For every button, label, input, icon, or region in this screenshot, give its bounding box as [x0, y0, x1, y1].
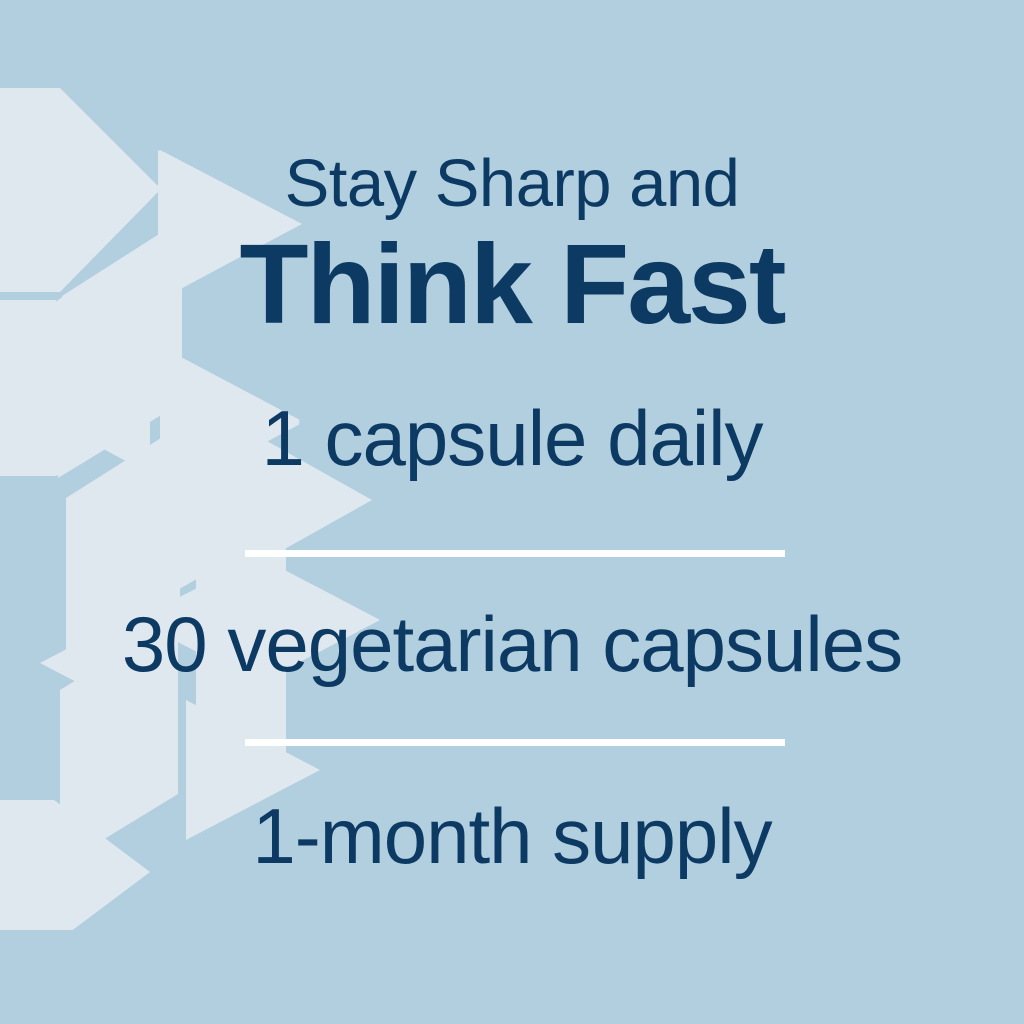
- content-stack: Stay Sharp and Think Fast 1 capsule dail…: [0, 0, 1024, 1024]
- page-title: Think Fast: [0, 228, 1024, 341]
- divider-rule: [245, 550, 785, 557]
- headline-eyebrow: Stay Sharp and: [0, 150, 1024, 217]
- supply-duration-text: 1-month supply: [0, 797, 1024, 875]
- divider-rule: [245, 739, 785, 746]
- dosage-text: 1 capsule daily: [0, 399, 1024, 477]
- capsule-count-text: 30 vegetarian capsules: [0, 605, 1024, 683]
- product-benefit-graphic: Stay Sharp and Think Fast 1 capsule dail…: [0, 0, 1024, 1024]
